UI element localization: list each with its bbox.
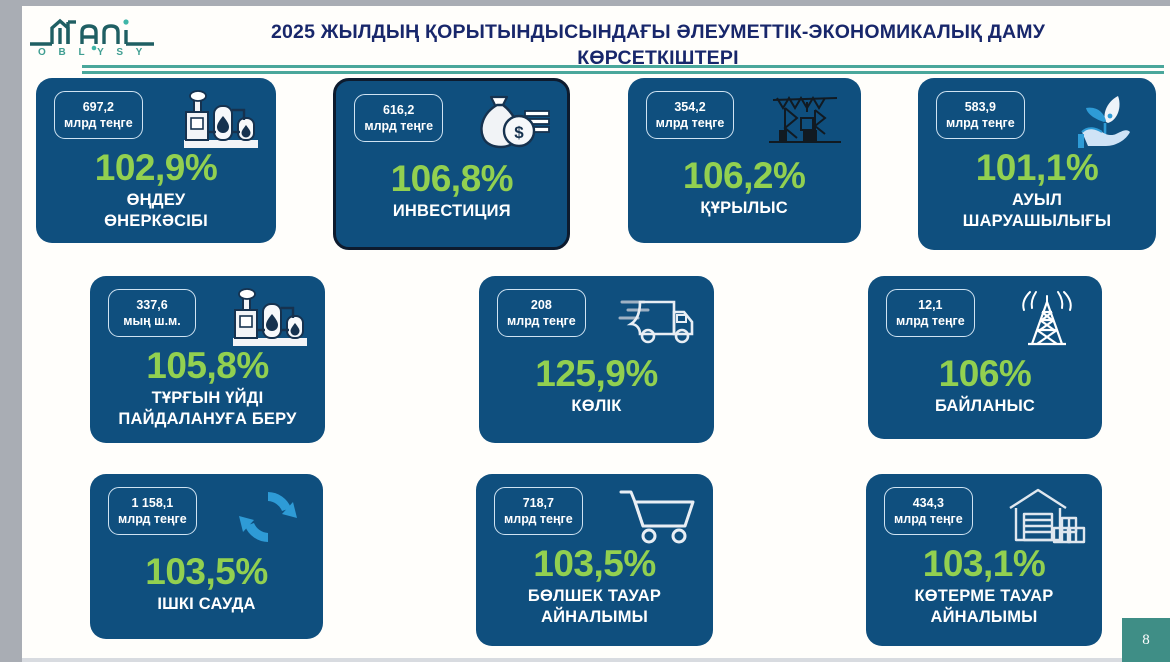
percent-value: 105,8% [90, 346, 325, 386]
badge-unit: млрд теңге [64, 115, 133, 131]
value-badge: 12,1 млрд теңге [886, 289, 975, 337]
indicator-row-2: 337,6 мың ш.м. [22, 276, 1170, 446]
badge-unit: млрд теңге [656, 115, 725, 131]
indicator-label: КӨТЕРМЕ ТАУАР АЙНАЛЫМЫ [866, 586, 1102, 628]
indicator-card-internal-trade[interactable]: 1 158,1 млрд теңге 10 [90, 474, 323, 639]
indicator-label: ТҰРҒЫН ҮЙДІ ПАЙДАЛАНУҒА БЕРУ [90, 388, 325, 430]
label-line-1: БӨЛШЕК ТАУАР [528, 587, 661, 605]
indicator-label: БӨЛШЕК ТАУАР АЙНАЛЫМЫ [476, 586, 713, 628]
label-line-1: ІШКІ САУДА [157, 595, 255, 613]
label-line-2: АЙНАЛЫМЫ [930, 608, 1037, 626]
logo-subtitle: O B L Y S Y [38, 47, 147, 58]
label-line-1: ИНВЕСТИЦИЯ [393, 202, 511, 220]
percent-value: 103,5% [476, 544, 713, 584]
indicator-label: ӨҢДЕУ ӨНЕРКӘСІБІ [36, 190, 276, 232]
indicator-card-communications[interactable]: 12,1 млрд теңге [868, 276, 1102, 439]
page-title: 2025 ЖЫЛДЫҢ ҚОРЫТЫНДЫСЫНДАҒЫ ӘЛЕУМЕТТІК-… [208, 19, 1108, 71]
shopping-cart-icon [615, 484, 701, 550]
percent-value: 125,9% [479, 354, 714, 394]
badge-unit: млрд теңге [364, 118, 433, 134]
value-badge: 434,3 млрд теңге [884, 487, 973, 535]
badge-unit: млрд теңге [507, 313, 576, 329]
value-badge: 354,2 млрд теңге [646, 91, 735, 139]
indicator-grid: 697,2 млрд теңге [22, 78, 1170, 658]
construction-crane-icon [763, 88, 849, 154]
badge-value: 718,7 [504, 495, 573, 511]
badge-value: 434,3 [894, 495, 963, 511]
value-badge: 616,2 млрд теңге [354, 94, 443, 142]
indicator-card-agriculture[interactable]: 583,9 млрд теңге [918, 78, 1156, 250]
indicator-card-transport[interactable]: 208 млрд теңге [479, 276, 714, 443]
value-badge: 337,6 мың ш.м. [108, 289, 196, 337]
badge-unit: млрд теңге [894, 511, 963, 527]
label-line-1: ҚҰРЫЛЫС [700, 199, 787, 217]
label-line-1: ТҰРҒЫН ҮЙДІ [152, 389, 264, 407]
slide-root: O B L Y S Y 2025 ЖЫЛДЫҢ ҚОРЫТЫНДЫСЫНДАҒЫ… [0, 0, 1170, 662]
label-line-1: АУЫЛ [1012, 191, 1062, 209]
label-line-1: ӨҢДЕУ [127, 191, 186, 209]
indicator-label: КӨЛІК [479, 396, 714, 417]
label-line-2: ӨНЕРКӘСІБІ [104, 212, 208, 230]
indicator-card-manufacturing[interactable]: 697,2 млрд теңге [36, 78, 276, 243]
badge-value: 616,2 [364, 102, 433, 118]
cycle-arrows-icon [225, 484, 311, 550]
percent-value: 106% [868, 354, 1102, 394]
badge-value: 697,2 [64, 99, 133, 115]
hand-sprout-icon [1058, 88, 1144, 154]
label-line-1: БАЙЛАНЫС [935, 397, 1035, 415]
badge-unit: млрд теңге [118, 511, 187, 527]
badge-unit: мың ш.м. [118, 313, 186, 329]
factory-refinery-icon [227, 286, 313, 352]
label-line-1: КӨТЕРМЕ ТАУАР [915, 587, 1054, 605]
value-badge: 718,7 млрд теңге [494, 487, 583, 535]
percent-value: 106,8% [336, 159, 567, 199]
badge-value: 354,2 [656, 99, 725, 115]
indicator-label: ІШКІ САУДА [90, 594, 323, 615]
badge-value: 208 [507, 297, 576, 313]
radio-tower-icon [1004, 286, 1090, 352]
header-rule-top [82, 65, 1164, 68]
value-badge: 208 млрд теңге [497, 289, 586, 337]
badge-unit: млрд теңге [896, 313, 965, 329]
indicator-card-retail-turnover[interactable]: 718,7 млрд теңге [476, 474, 713, 646]
svg-text:$: $ [515, 123, 525, 142]
indicator-card-construction[interactable]: 354,2 млрд теңге [628, 78, 861, 243]
badge-value: 12,1 [896, 297, 965, 313]
indicator-label: ИНВЕСТИЦИЯ [336, 201, 567, 222]
value-badge: 1 158,1 млрд теңге [108, 487, 197, 535]
indicator-card-housing[interactable]: 337,6 мың ш.м. [90, 276, 325, 443]
label-line-1: КӨЛІК [571, 397, 621, 415]
indicator-label: БАЙЛАНЫС [868, 396, 1102, 417]
badge-value: 583,9 [946, 99, 1015, 115]
slide-sheet: O B L Y S Y 2025 ЖЫЛДЫҢ ҚОРЫТЫНДЫСЫНДАҒЫ… [22, 6, 1170, 662]
indicator-row-3: 1 158,1 млрд теңге 10 [22, 474, 1170, 652]
value-badge: 583,9 млрд теңге [936, 91, 1025, 139]
badge-value: 337,6 [118, 297, 186, 313]
warehouse-boxes-icon [1004, 484, 1090, 550]
indicator-label: ҚҰРЫЛЫС [628, 198, 861, 219]
header: O B L Y S Y 2025 ЖЫЛДЫҢ ҚОРЫТЫНДЫСЫНДАҒЫ… [22, 6, 1170, 68]
label-line-2: АЙНАЛЫМЫ [541, 608, 648, 626]
badge-value: 1 158,1 [118, 495, 187, 511]
footer-strip [22, 658, 1170, 662]
indicator-row-1: 697,2 млрд теңге [22, 78, 1170, 258]
label-line-2: ПАЙДАЛАНУҒА БЕРУ [118, 410, 296, 428]
percent-value: 101,1% [918, 148, 1156, 188]
indicator-card-wholesale-turnover[interactable]: 434,3 млрд теңге [866, 474, 1102, 646]
delivery-truck-icon [616, 286, 702, 352]
indicator-card-investment[interactable]: 616,2 млрд теңге $ [333, 78, 570, 250]
percent-value: 106,2% [628, 156, 861, 196]
header-rule-bottom [82, 71, 1164, 74]
percent-value: 103,5% [90, 552, 323, 592]
badge-unit: млрд теңге [504, 511, 573, 527]
label-line-2: ШАРУАШЫЛЫҒЫ [963, 212, 1111, 230]
left-edge-band [0, 6, 22, 662]
money-bag-coins-icon: $ [469, 91, 555, 157]
percent-value: 103,1% [866, 544, 1102, 584]
percent-value: 102,9% [36, 148, 276, 188]
badge-unit: млрд теңге [946, 115, 1015, 131]
indicator-label: АУЫЛ ШАРУАШЫЛЫҒЫ [918, 190, 1156, 232]
page-number-badge: 8 [1122, 618, 1170, 662]
value-badge: 697,2 млрд теңге [54, 91, 143, 139]
factory-refinery-icon [178, 88, 264, 154]
